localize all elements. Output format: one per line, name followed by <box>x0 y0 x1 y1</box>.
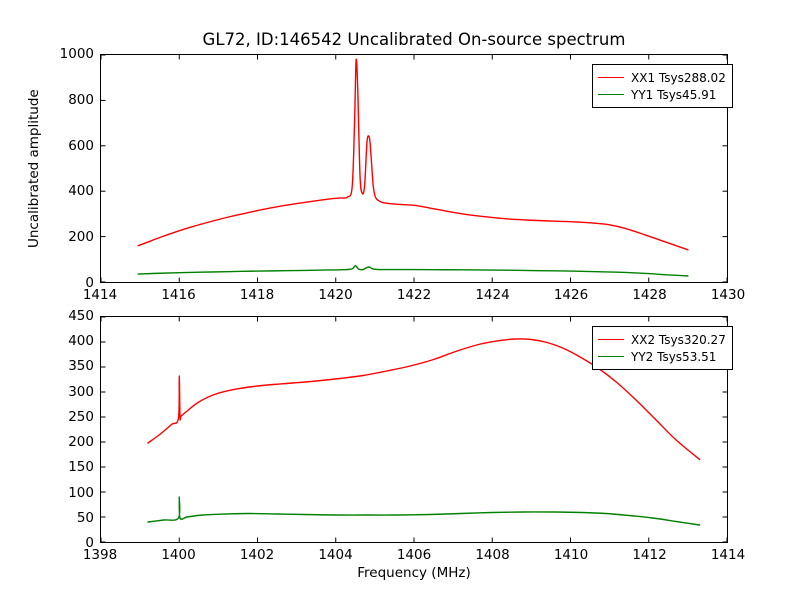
top-panel-xtick-1420: 1420 <box>318 287 352 303</box>
legend-label: YY1 Tsys45.91 <box>631 88 716 102</box>
bottom-panel-ytick-0: 0 <box>0 535 94 551</box>
bottom-panel-ytick-50: 50 <box>0 510 94 526</box>
legend-label: YY2 Tsys53.51 <box>631 350 716 364</box>
legend-line-swatch <box>598 356 624 357</box>
top-panel-ytick-0: 0 <box>0 275 94 291</box>
top-panel-xtick-1424: 1424 <box>475 287 509 303</box>
legend-label: XX1 Tsys288.02 <box>631 71 726 85</box>
bottom-panel-xtick-1408: 1408 <box>475 547 509 563</box>
top-panel-xtick-1426: 1426 <box>554 287 588 303</box>
top-panel-xtick-1428: 1428 <box>632 287 666 303</box>
legend-line-swatch <box>598 339 624 340</box>
bottom-panel-ytick-150: 150 <box>0 459 94 475</box>
bottom-panel-xtick-1410: 1410 <box>554 547 588 563</box>
legend-entry: YY2 Tsys53.51 <box>598 348 726 365</box>
bottom-panel-xtick-1400: 1400 <box>161 547 195 563</box>
top-panel-xtick-1422: 1422 <box>397 287 431 303</box>
legend-line-swatch <box>598 94 624 95</box>
bottom-panel-xtick-1412: 1412 <box>632 547 666 563</box>
bottom-panel-ytick-400: 400 <box>0 333 94 349</box>
top-panel-legend: XX1 Tsys288.02YY1 Tsys45.91 <box>592 64 733 108</box>
bottom-panel-xtick-1402: 1402 <box>240 547 274 563</box>
bottom-panel-ytick-200: 200 <box>0 434 94 450</box>
bottom-panel-xtick-1404: 1404 <box>318 547 352 563</box>
top-panel-y-axis-label: Uncalibrated amplitude <box>26 89 42 248</box>
top-panel-ytick-400: 400 <box>0 183 94 199</box>
top-panel-ytick-800: 800 <box>0 92 94 108</box>
bottom-panel-ytick-100: 100 <box>0 485 94 501</box>
bottom-panel-legend: XX2 Tsys320.27YY2 Tsys53.51 <box>592 326 733 370</box>
figure-title: GL72, ID:146542 Uncalibrated On-source s… <box>100 30 728 49</box>
bottom-panel-ytick-350: 350 <box>0 358 94 374</box>
top-panel-ytick-600: 600 <box>0 138 94 154</box>
bottom-panel-ytick-300: 300 <box>0 384 94 400</box>
top-panel-xtick-1430: 1430 <box>711 287 745 303</box>
bottom-panel-ytick-450: 450 <box>0 308 94 324</box>
legend-entry: XX1 Tsys288.02 <box>598 69 726 86</box>
spectrum-figure: GL72, ID:146542 Uncalibrated On-source s… <box>0 0 800 600</box>
top-panel-ytick-200: 200 <box>0 229 94 245</box>
bottom-panel-x-axis-label: Frequency (MHz) <box>100 565 728 581</box>
legend-line-swatch <box>598 77 624 78</box>
bottom-panel-ytick-250: 250 <box>0 409 94 425</box>
top-panel-xtick-1418: 1418 <box>240 287 274 303</box>
legend-label: XX2 Tsys320.27 <box>631 333 726 347</box>
bottom-panel-xtick-1414: 1414 <box>711 547 745 563</box>
legend-entry: YY1 Tsys45.91 <box>598 86 726 103</box>
top-panel-ytick-1000: 1000 <box>0 46 94 62</box>
bottom-panel-xtick-1406: 1406 <box>397 547 431 563</box>
top-panel-xtick-1416: 1416 <box>161 287 195 303</box>
legend-entry: XX2 Tsys320.27 <box>598 331 726 348</box>
